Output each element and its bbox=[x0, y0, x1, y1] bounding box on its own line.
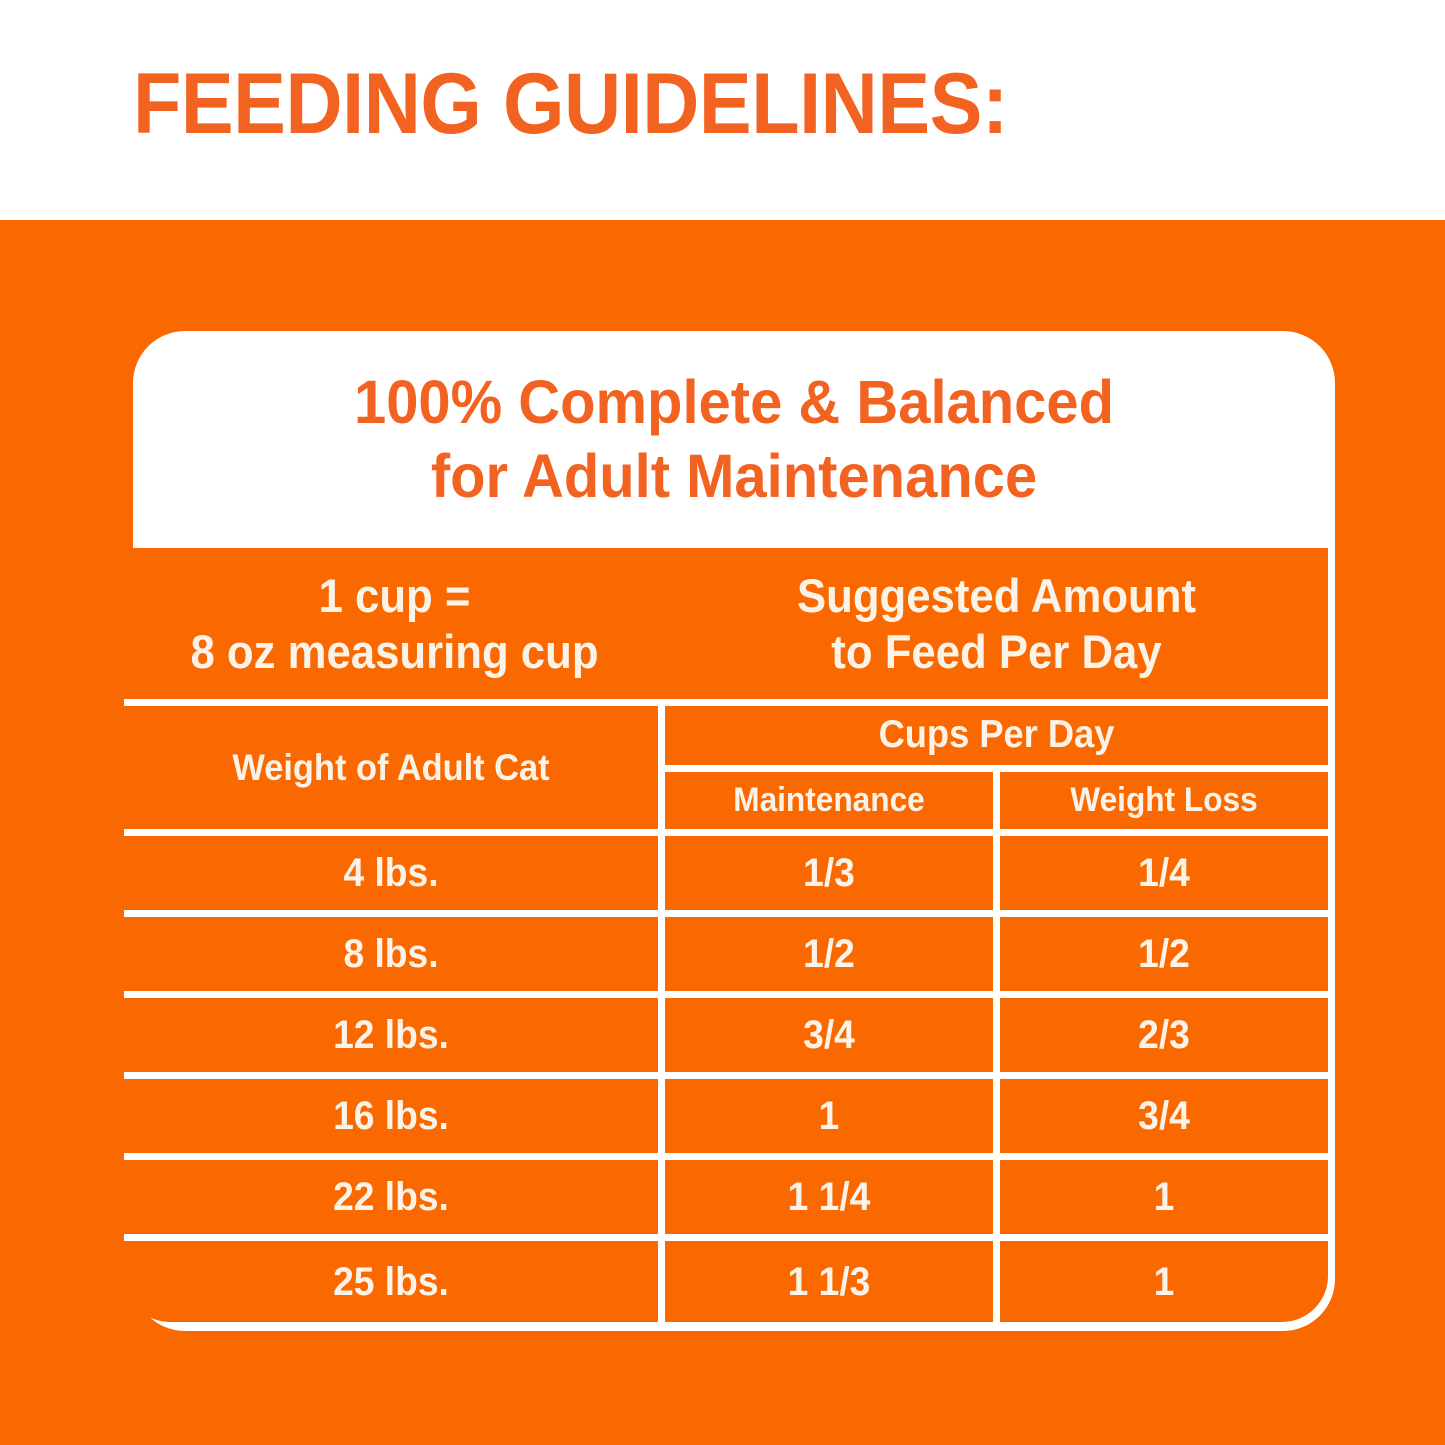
cell-weight: 4 lbs. bbox=[124, 836, 665, 917]
cell-maintenance-value: 3/4 bbox=[676, 1011, 981, 1059]
cell-maintenance-value: 1 bbox=[676, 1092, 981, 1140]
cell-weight-loss: 1/4 bbox=[1000, 836, 1328, 917]
feeding-guidelines-panel: FEEDING GUIDELINES: 100% Complete & Bala… bbox=[0, 0, 1445, 1445]
cell-weight-value: 16 lbs. bbox=[143, 1092, 640, 1140]
header-weight-of-cat: Weight of Adult Cat bbox=[124, 706, 665, 836]
cell-weight-loss: 1/2 bbox=[1000, 917, 1328, 998]
cell-weight-value: 25 lbs. bbox=[143, 1258, 640, 1306]
cup-equivalence-cell: 1 cup = 8 oz measuring cup bbox=[124, 548, 665, 706]
suggested-amount-line-2: to Feed Per Day bbox=[688, 624, 1305, 680]
suggested-amount-line-1: Suggested Amount bbox=[688, 568, 1305, 624]
card-heading-line-2: for Adult Maintenance bbox=[163, 439, 1305, 513]
header-cups-per-day-label: Cups Per Day bbox=[688, 712, 1305, 758]
header-weight-loss: Weight Loss bbox=[1000, 772, 1328, 836]
cell-weight-loss-value: 1 bbox=[1011, 1173, 1316, 1221]
card-heading: 100% Complete & Balanced for Adult Maint… bbox=[163, 365, 1305, 513]
table-header-cups-row: Weight of Adult Cat Cups Per Day bbox=[124, 706, 1328, 772]
table-row: 22 lbs. 1 1/4 1 bbox=[124, 1160, 1328, 1241]
cell-weight-value: 8 lbs. bbox=[143, 930, 640, 978]
cell-weight: 16 lbs. bbox=[124, 1079, 665, 1160]
cell-maintenance: 1 bbox=[665, 1079, 1000, 1160]
cell-maintenance-value: 1 1/4 bbox=[676, 1173, 981, 1221]
cell-weight-loss-value: 3/4 bbox=[1011, 1092, 1316, 1140]
cell-maintenance: 3/4 bbox=[665, 998, 1000, 1079]
cup-equivalence-line-1: 1 cup = bbox=[143, 568, 646, 624]
table-banner-row: 1 cup = 8 oz measuring cup Suggested Amo… bbox=[124, 548, 1328, 706]
cell-maintenance-value: 1/2 bbox=[676, 930, 981, 978]
suggested-amount-cell: Suggested Amount to Feed Per Day bbox=[665, 548, 1328, 706]
page-title: FEEDING GUIDELINES: bbox=[133, 56, 1008, 152]
cell-weight: 22 lbs. bbox=[124, 1160, 665, 1241]
card-heading-line-1: 100% Complete & Balanced bbox=[163, 365, 1305, 439]
cell-maintenance: 1/2 bbox=[665, 917, 1000, 998]
header-cups-per-day: Cups Per Day bbox=[665, 706, 1328, 772]
cup-equivalence-line-2: 8 oz measuring cup bbox=[143, 624, 646, 680]
cell-weight-loss-value: 1 bbox=[1011, 1258, 1316, 1306]
cell-weight-loss: 3/4 bbox=[1000, 1079, 1328, 1160]
cell-maintenance: 1 1/3 bbox=[665, 1241, 1000, 1322]
table-row: 16 lbs. 1 3/4 bbox=[124, 1079, 1328, 1160]
feeding-table: 1 cup = 8 oz measuring cup Suggested Amo… bbox=[124, 548, 1328, 1322]
cell-weight-loss: 1 bbox=[1000, 1241, 1328, 1322]
table-row: 12 lbs. 3/4 2/3 bbox=[124, 998, 1328, 1079]
cell-maintenance-value: 1/3 bbox=[676, 849, 981, 897]
cell-maintenance: 1/3 bbox=[665, 836, 1000, 917]
cell-weight-loss-value: 1/2 bbox=[1011, 930, 1316, 978]
cell-maintenance: 1 1/4 bbox=[665, 1160, 1000, 1241]
cell-weight: 12 lbs. bbox=[124, 998, 665, 1079]
cell-weight-value: 12 lbs. bbox=[143, 1011, 640, 1059]
cell-weight-loss: 2/3 bbox=[1000, 998, 1328, 1079]
header-maintenance: Maintenance bbox=[665, 772, 1000, 836]
header-maintenance-label: Maintenance bbox=[676, 780, 981, 820]
title-band: FEEDING GUIDELINES: bbox=[0, 0, 1445, 220]
header-weight-loss-label: Weight Loss bbox=[1011, 780, 1316, 820]
cell-weight-value: 22 lbs. bbox=[143, 1173, 640, 1221]
cell-weight: 25 lbs. bbox=[124, 1241, 665, 1322]
table-row: 8 lbs. 1/2 1/2 bbox=[124, 917, 1328, 998]
cell-maintenance-value: 1 1/3 bbox=[676, 1258, 981, 1306]
cell-weight-loss-value: 2/3 bbox=[1011, 1011, 1316, 1059]
cell-weight-loss-value: 1/4 bbox=[1011, 849, 1316, 897]
table-row: 4 lbs. 1/3 1/4 bbox=[124, 836, 1328, 917]
cell-weight: 8 lbs. bbox=[124, 917, 665, 998]
header-weight-of-cat-label: Weight of Adult Cat bbox=[143, 746, 640, 790]
table-row: 25 lbs. 1 1/3 1 bbox=[124, 1241, 1328, 1322]
cell-weight-value: 4 lbs. bbox=[143, 849, 640, 897]
cell-weight-loss: 1 bbox=[1000, 1160, 1328, 1241]
